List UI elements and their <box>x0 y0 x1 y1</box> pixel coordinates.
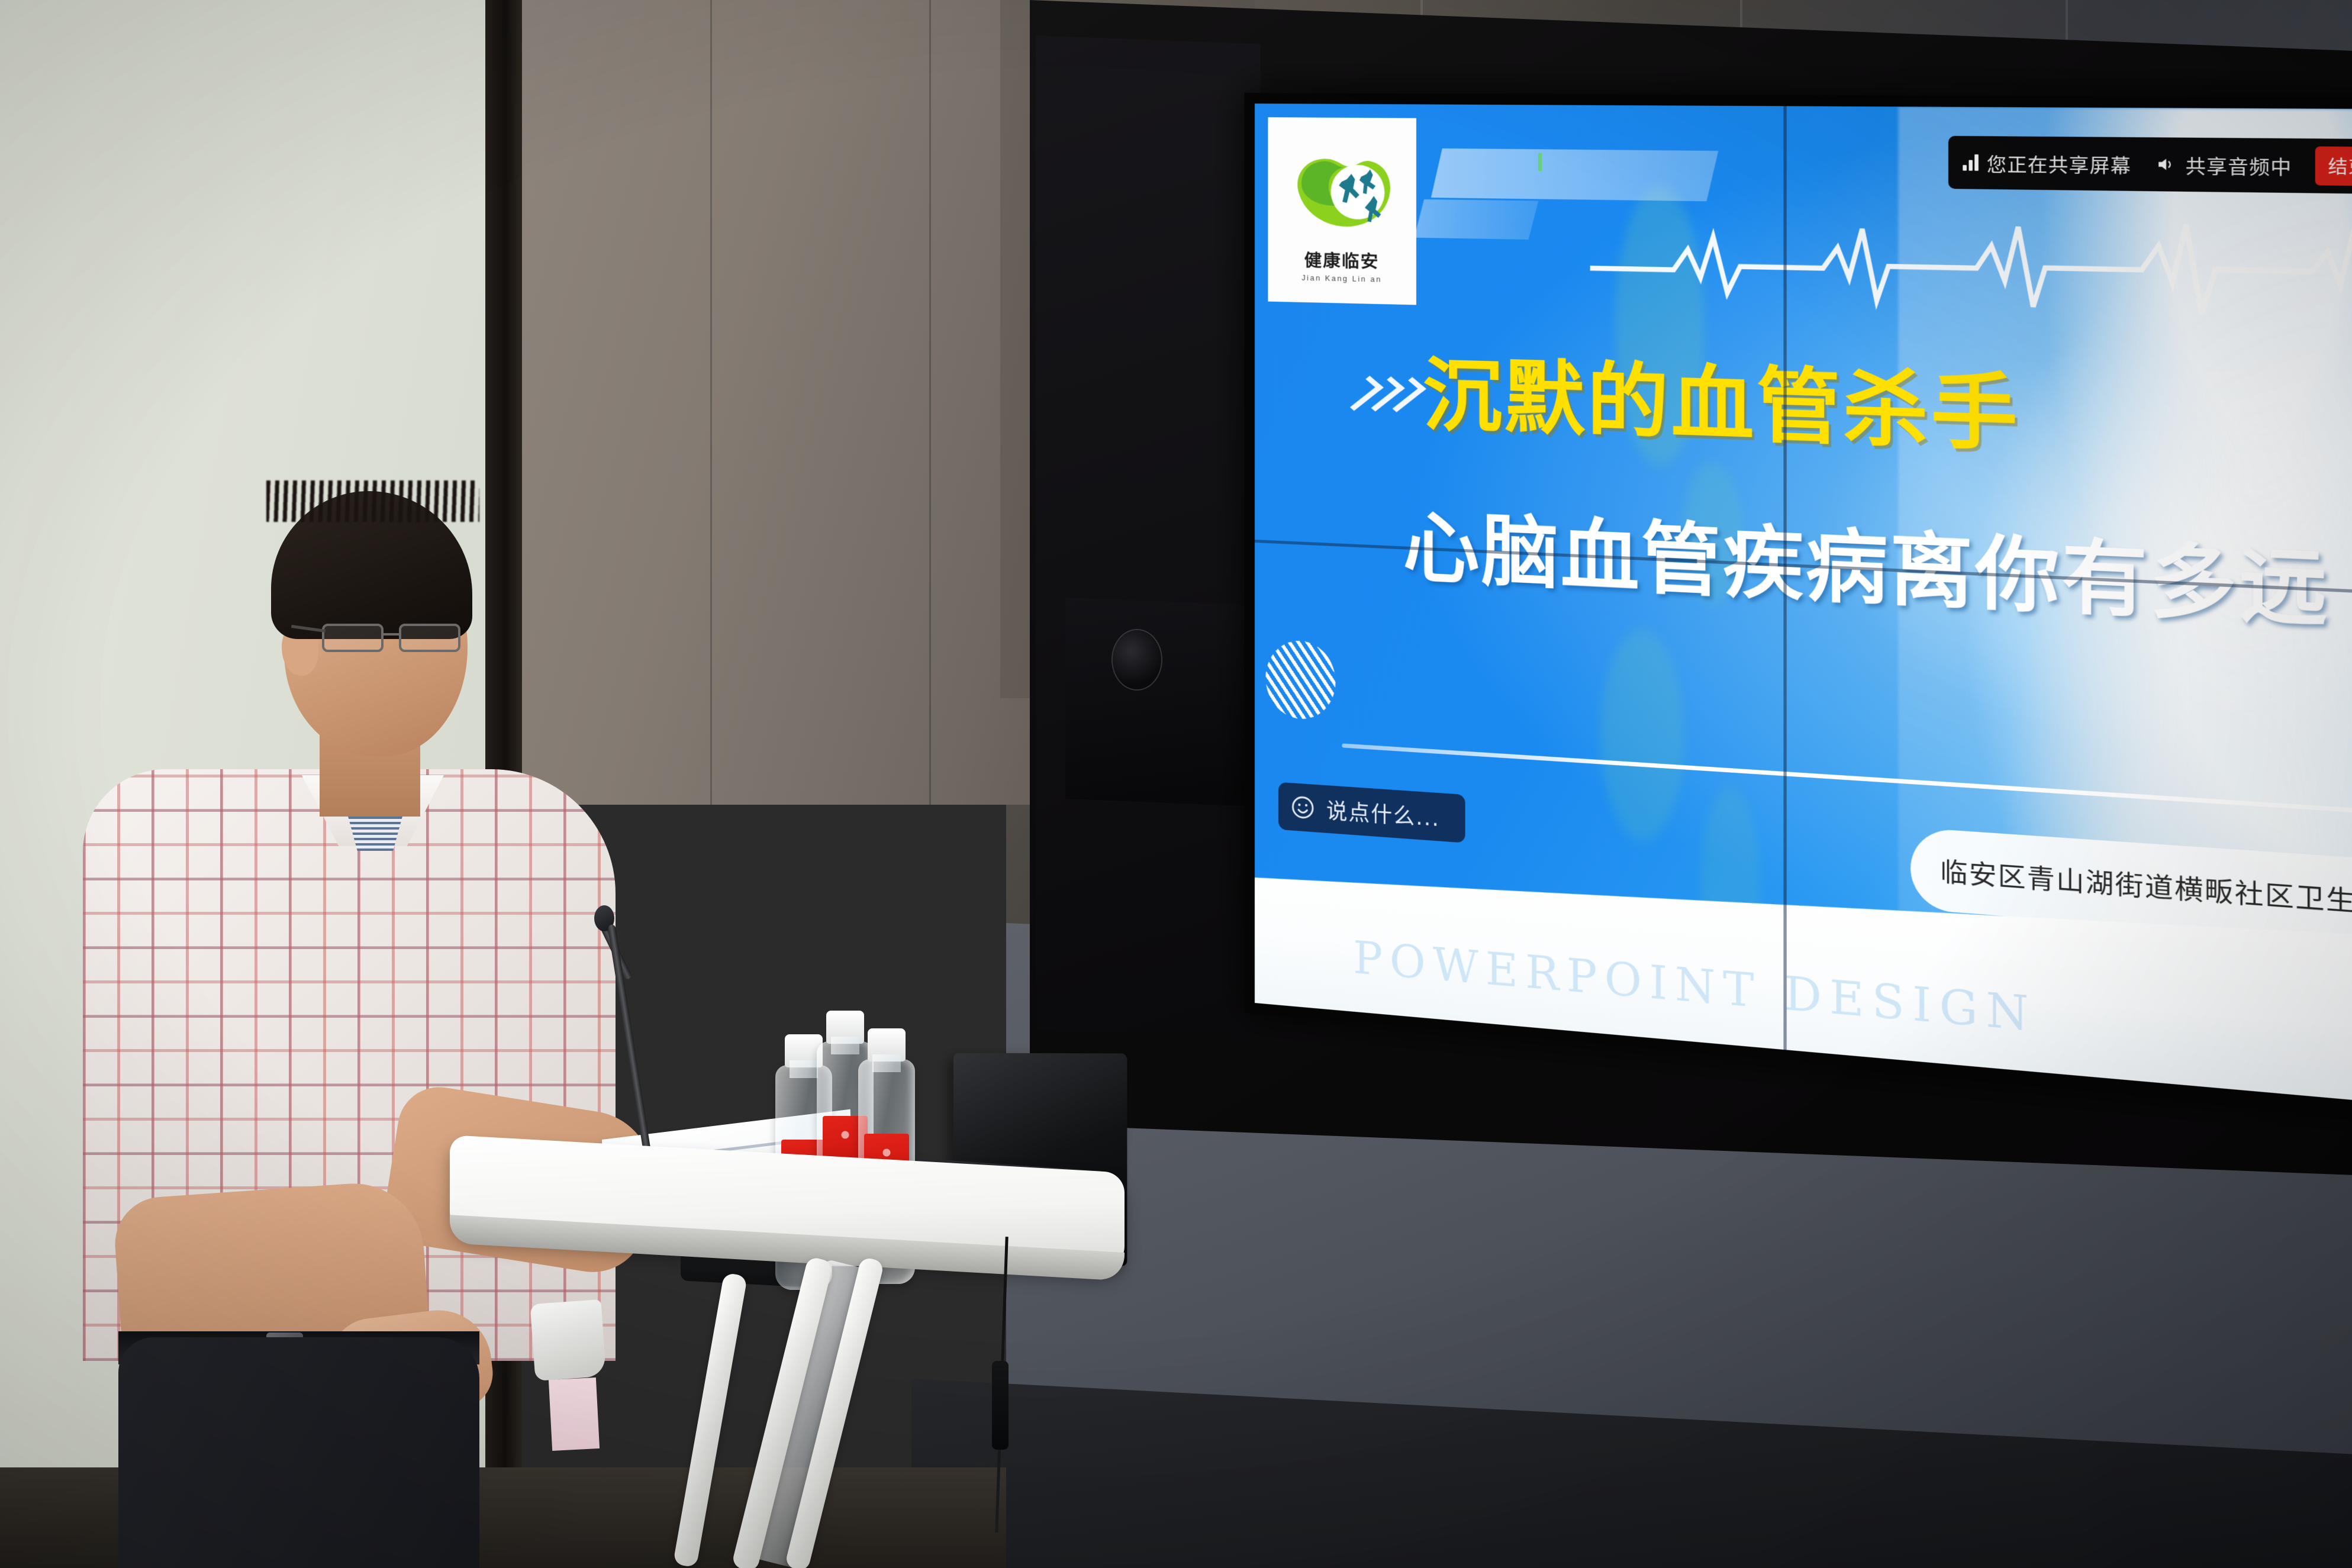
leaf-logo-icon <box>1288 137 1396 247</box>
camera-light-bar <box>1101 704 1175 716</box>
decor-tick <box>1538 153 1542 171</box>
video-wall-screen: 健康临安 Jian Kang Lin an 沉默的血管杀手 心脑血管疾病离你有多… <box>1255 104 2352 1109</box>
cable-plug <box>992 1361 1009 1450</box>
share-audio-status: 共享音频中 <box>2154 150 2292 179</box>
share-status: 您正在共享屏幕 <box>1963 149 2131 178</box>
presenter-hair-spikes <box>266 480 479 522</box>
camera-plate <box>1065 598 1261 806</box>
camera-icon <box>1113 630 1161 689</box>
health-lin-an-logo: 健康临安 Jian Kang Lin an <box>1268 117 1416 305</box>
signal-bars-icon <box>1963 154 1979 170</box>
chat-placeholder: 说点什么... <box>1326 793 1440 833</box>
decor-ribbon-1 <box>1431 149 1718 202</box>
glasses-icon <box>322 620 475 657</box>
logo-text-cn: 健康临安 <box>1304 247 1380 273</box>
presenter <box>195 491 681 1568</box>
video-wall-left-column <box>1036 36 1261 1038</box>
slide-title: 沉默的血管杀手 <box>1423 356 2020 456</box>
screen-share-toolbar[interactable]: 您正在共享屏幕 共享音频中 结束共享 <box>1948 135 2352 194</box>
decor-ribbon-2 <box>1415 199 1539 240</box>
chevron-arrows-icon <box>1353 374 1413 414</box>
podium-clamp[interactable] <box>530 1299 607 1381</box>
speaker-icon <box>2154 154 2177 174</box>
podium-tag <box>549 1377 600 1451</box>
logo-text-pinyin: Jian Kang Lin an <box>1301 273 1382 284</box>
end-share-button[interactable]: 结束共享 <box>2315 146 2352 186</box>
share-status-label: 您正在共享屏幕 <box>1987 149 2131 178</box>
share-audio-label: 共享音频中 <box>2185 150 2292 180</box>
screenshot-root: 健康临安 Jian Kang Lin an 沉默的血管杀手 心脑血管疾病离你有多… <box>0 0 2352 1568</box>
smiley-icon <box>1290 793 1316 821</box>
ecg-waveform-icon <box>1590 189 2352 340</box>
bezel-seam-vertical-1 <box>1784 106 1787 1050</box>
slide-title-row: 沉默的血管杀手 <box>1353 354 2020 456</box>
presenter-trousers <box>118 1337 479 1568</box>
